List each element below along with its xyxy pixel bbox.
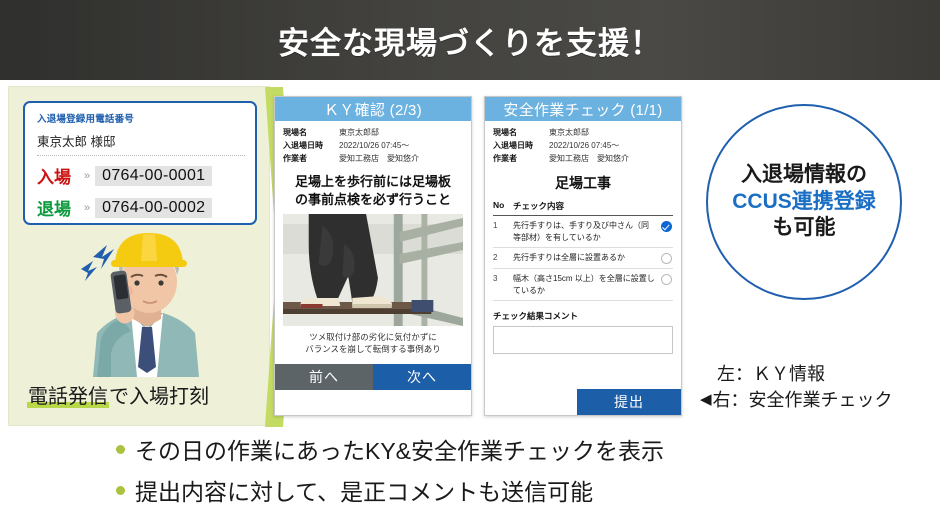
ccus-callout-circle: 入退場情報の CCUS連携登録 も可能 bbox=[706, 104, 902, 300]
checkbox-checked-icon[interactable] bbox=[659, 220, 673, 232]
ky-photo-caption-line1: ツメ取付け部の劣化に気付かずに bbox=[285, 331, 461, 343]
exit-number-row: 退場 » 0764-00-0002 bbox=[37, 195, 245, 220]
ky-message: 足場上を歩行前には足場板 の事前点検を必ず行うこと bbox=[285, 173, 461, 208]
checkbox-unchecked-icon[interactable] bbox=[659, 273, 673, 285]
check-meta-datetime: 入退場日時 2022/10/26 07:45～ bbox=[493, 140, 673, 152]
callout-line3: も可能 bbox=[773, 215, 836, 242]
check-panel-header: 安全作業チェック (1/1) bbox=[485, 97, 681, 121]
ky-meta-worker-key: 作業者 bbox=[283, 153, 339, 165]
ky-panel-body: 現場名 東京太郎邸 入退場日時 2022/10/26 07:45～ 作業者 愛知… bbox=[275, 121, 471, 415]
check-meta-worker-key: 作業者 bbox=[493, 153, 549, 165]
check-meta-datetime-key: 入退場日時 bbox=[493, 140, 549, 152]
previous-button[interactable]: 前へ bbox=[275, 364, 373, 390]
comment-label: チェック結果コメント bbox=[493, 310, 673, 322]
checklist-row[interactable]: 2 先行手すりは全層に設置あるか bbox=[493, 248, 673, 269]
bullet-text: 提出内容に対して、是正コメントも送信可能 bbox=[135, 473, 593, 507]
entry-label: 入場 bbox=[37, 163, 83, 188]
checklist-row-no: 2 bbox=[493, 252, 513, 264]
ky-meta-site-key: 現場名 bbox=[283, 127, 339, 139]
ky-button-bar: 前へ 次へ bbox=[275, 364, 471, 390]
ky-photo-caption: ツメ取付け部の劣化に気付かずに バランスを崩して転倒する事例あり bbox=[283, 331, 463, 356]
ky-message-line2: の事前点検を必ず行うこと bbox=[285, 191, 461, 209]
ky-meta-site-value: 東京太郎邸 bbox=[339, 127, 379, 139]
exit-phone-number: 0764-00-0002 bbox=[95, 198, 212, 218]
checklist-row-text: 先行手すりは、手すり及び中さん（同等部材）を有しているか bbox=[513, 220, 659, 243]
exit-label: 退場 bbox=[37, 195, 83, 220]
bullet-dot-icon bbox=[116, 486, 125, 495]
checklist-row-text: 幅木（高さ15cm 以上）を全層に設置しているか bbox=[513, 273, 659, 296]
callout-line2: CCUS連携登録 bbox=[732, 189, 876, 216]
left-caption-rest: で入場打刻 bbox=[109, 386, 209, 408]
check-meta-datetime-value: 2022/10/26 07:45～ bbox=[549, 140, 619, 152]
ky-meta-worker-value: 愛知工務店 愛知悠介 bbox=[339, 153, 419, 165]
check-meta-site: 現場名 東京太郎邸 bbox=[493, 127, 673, 139]
checklist-header-no: No bbox=[493, 200, 513, 212]
checklist-row-no: 3 bbox=[493, 273, 513, 285]
comment-input[interactable] bbox=[493, 326, 673, 354]
ky-panel: ＫＹ確認 (2/3) 現場名 東京太郎邸 入退場日時 2022/10/26 07… bbox=[274, 96, 472, 416]
left-caption-highlight: 電話発信 bbox=[27, 386, 109, 408]
ky-photo-caption-line2: バランスを崩して転倒する事例あり bbox=[285, 343, 461, 355]
entry-phone-number: 0764-00-0001 bbox=[95, 166, 212, 186]
triangle-left-icon: ◀ bbox=[700, 390, 712, 408]
ky-meta-datetime-value: 2022/10/26 07:45～ bbox=[339, 140, 409, 152]
left-caption: 電話発信で入場打刻 bbox=[27, 380, 267, 409]
list-item: その日の作業にあったKY&安全作業チェックを表示 bbox=[116, 432, 664, 466]
checklist-header-row: No チェック内容 bbox=[493, 200, 673, 216]
work-type-title: 足場工事 bbox=[493, 173, 673, 193]
submit-bar: 提出 bbox=[485, 389, 681, 415]
ky-panel-header: ＫＹ確認 (2/3) bbox=[275, 97, 471, 121]
exit-arrow-icon: » bbox=[84, 202, 90, 214]
worker-illustration bbox=[57, 227, 237, 377]
bullet-dot-icon bbox=[116, 445, 125, 454]
left-panel: 入退場登録用電話番号 東京太郎 様邸 入場 » 0764-00-0001 退場 … bbox=[8, 86, 270, 426]
safety-check-panel: 安全作業チェック (1/1) 現場名 東京太郎邸 入退場日時 2022/10/2… bbox=[484, 96, 682, 416]
checklist-row[interactable]: 1 先行手すりは、手すり及び中さん（同等部材）を有しているか bbox=[493, 216, 673, 248]
ky-photo bbox=[283, 214, 463, 326]
entry-arrow-icon: » bbox=[84, 170, 90, 182]
checkbox-unchecked-icon[interactable] bbox=[659, 252, 673, 264]
ky-meta-worker: 作業者 愛知工務店 愛知悠介 bbox=[283, 153, 463, 165]
slide-header: 安全な現場づくりを支援！ bbox=[0, 0, 940, 80]
checklist-row-text: 先行手すりは全層に設置あるか bbox=[513, 252, 659, 264]
check-meta-worker-value: 愛知工務店 愛知悠介 bbox=[549, 153, 629, 165]
page-title: 安全な現場づくりを支援！ bbox=[278, 18, 662, 63]
ky-meta-datetime: 入退場日時 2022/10/26 07:45～ bbox=[283, 140, 463, 152]
next-button[interactable]: 次へ bbox=[373, 364, 471, 390]
check-meta-site-key: 現場名 bbox=[493, 127, 549, 139]
bullet-list: その日の作業にあったKY&安全作業チェックを表示 提出内容に対して、是正コメント… bbox=[116, 432, 664, 514]
checklist-row[interactable]: 3 幅木（高さ15cm 以上）を全層に設置しているか bbox=[493, 269, 673, 301]
card-site-name: 東京太郎 様邸 bbox=[37, 131, 245, 156]
checklist-header-content: チェック内容 bbox=[513, 200, 564, 212]
ky-meta-site: 現場名 東京太郎邸 bbox=[283, 127, 463, 139]
card-title: 入退場登録用電話番号 bbox=[37, 111, 245, 125]
check-panel-body: 現場名 東京太郎邸 入退場日時 2022/10/26 07:45～ 作業者 愛知… bbox=[485, 121, 681, 415]
submit-button[interactable]: 提出 bbox=[577, 389, 681, 415]
check-meta-worker: 作業者 愛知工務店 愛知悠介 bbox=[493, 153, 673, 165]
slide-root: 安全な現場づくりを支援！ 入退場登録用電話番号 東京太郎 様邸 入場 » 076… bbox=[0, 0, 940, 522]
checklist-row-no: 1 bbox=[493, 220, 513, 232]
legend-line-left: 左：ＫＹ情報 bbox=[700, 360, 936, 386]
legend-line-right: ◀ 右：安全作業チェック bbox=[700, 386, 936, 412]
phone-number-card: 入退場登録用電話番号 東京太郎 様邸 入場 » 0764-00-0001 退場 … bbox=[23, 101, 257, 225]
ky-meta-datetime-key: 入退場日時 bbox=[283, 140, 339, 152]
entry-number-row: 入場 » 0764-00-0001 bbox=[37, 163, 245, 188]
list-item: 提出内容に対して、是正コメントも送信可能 bbox=[116, 473, 664, 507]
check-meta-site-value: 東京太郎邸 bbox=[549, 127, 589, 139]
legend-line-right-text: 右：安全作業チェック bbox=[713, 386, 893, 412]
ky-message-line1: 足場上を歩行前には足場板 bbox=[285, 173, 461, 191]
callout-line1: 入退場情報の bbox=[741, 162, 867, 189]
legend: 左：ＫＹ情報 ◀ 右：安全作業チェック bbox=[700, 360, 936, 412]
bullet-text: その日の作業にあったKY&安全作業チェックを表示 bbox=[135, 432, 664, 466]
